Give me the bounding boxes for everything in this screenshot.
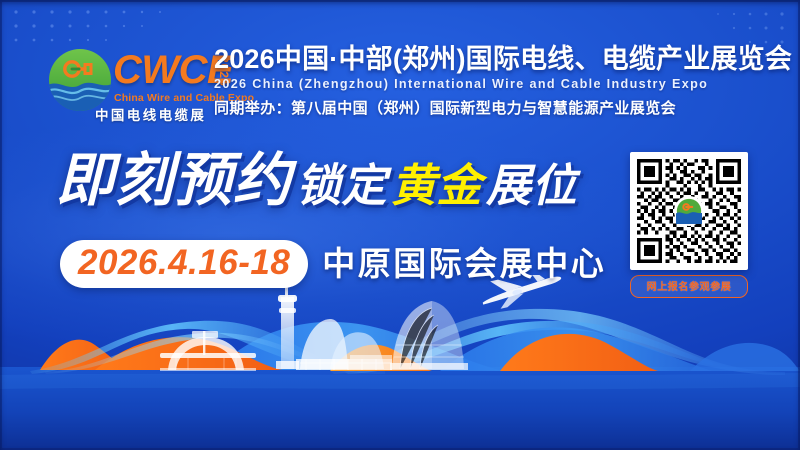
date-venue-row: 2026.4.16-18 中原国际会展中心 (60, 240, 606, 288)
headline-gold-text: 黄金 (391, 162, 482, 210)
qr-caption-badge[interactable]: 网上报名参观参展 (630, 275, 748, 298)
banner-header: 中国电线电缆展 CWCE 2026 China Wire and Cable E… (0, 42, 800, 137)
date-pill: 2026.4.16-18 (60, 240, 308, 288)
qr-caption-text: 网上报名参观参展 (647, 282, 732, 293)
logo-chinese-tagline: 中国电线电缆展 (95, 104, 215, 124)
cwce-circular-logo-icon (48, 48, 112, 112)
exhibition-hall-icon (390, 301, 468, 370)
event-venue: 中原国际会展中心 (322, 244, 606, 284)
city-skyline-illustration (0, 275, 800, 450)
qr-code-block[interactable]: 网上报名参观参展 (630, 152, 754, 298)
expo-title-english: 2026 China (Zhengzhou) International Wir… (214, 76, 792, 93)
headline-part-3: 展位 (486, 162, 577, 210)
headline-part-2: 锁定 (296, 162, 387, 210)
qr-code-image[interactable] (630, 152, 748, 270)
expo-promo-banner: 中国电线电缆展 CWCE 2026 China Wire and Cable E… (0, 0, 800, 450)
headline-slogan: 即刻预约 锁定 黄金 展位 (56, 152, 577, 210)
expo-title-chinese: 2026中国·中部(郑州)国际电线、电缆产业展览会 (214, 44, 792, 75)
qr-center-logo-icon (674, 196, 704, 226)
header-titles: 2026中国·中部(郑州)国际电线、电缆产业展览会 2026 China (Zh… (214, 42, 792, 119)
expo-subtitle-chinese: 同期举办：第八届中国（郑州）国际新型电力与智慧能源产业展览会 (214, 99, 792, 119)
event-date: 2026.4.16-18 (78, 243, 290, 283)
headline-part-1: 即刻预约 (56, 152, 292, 210)
